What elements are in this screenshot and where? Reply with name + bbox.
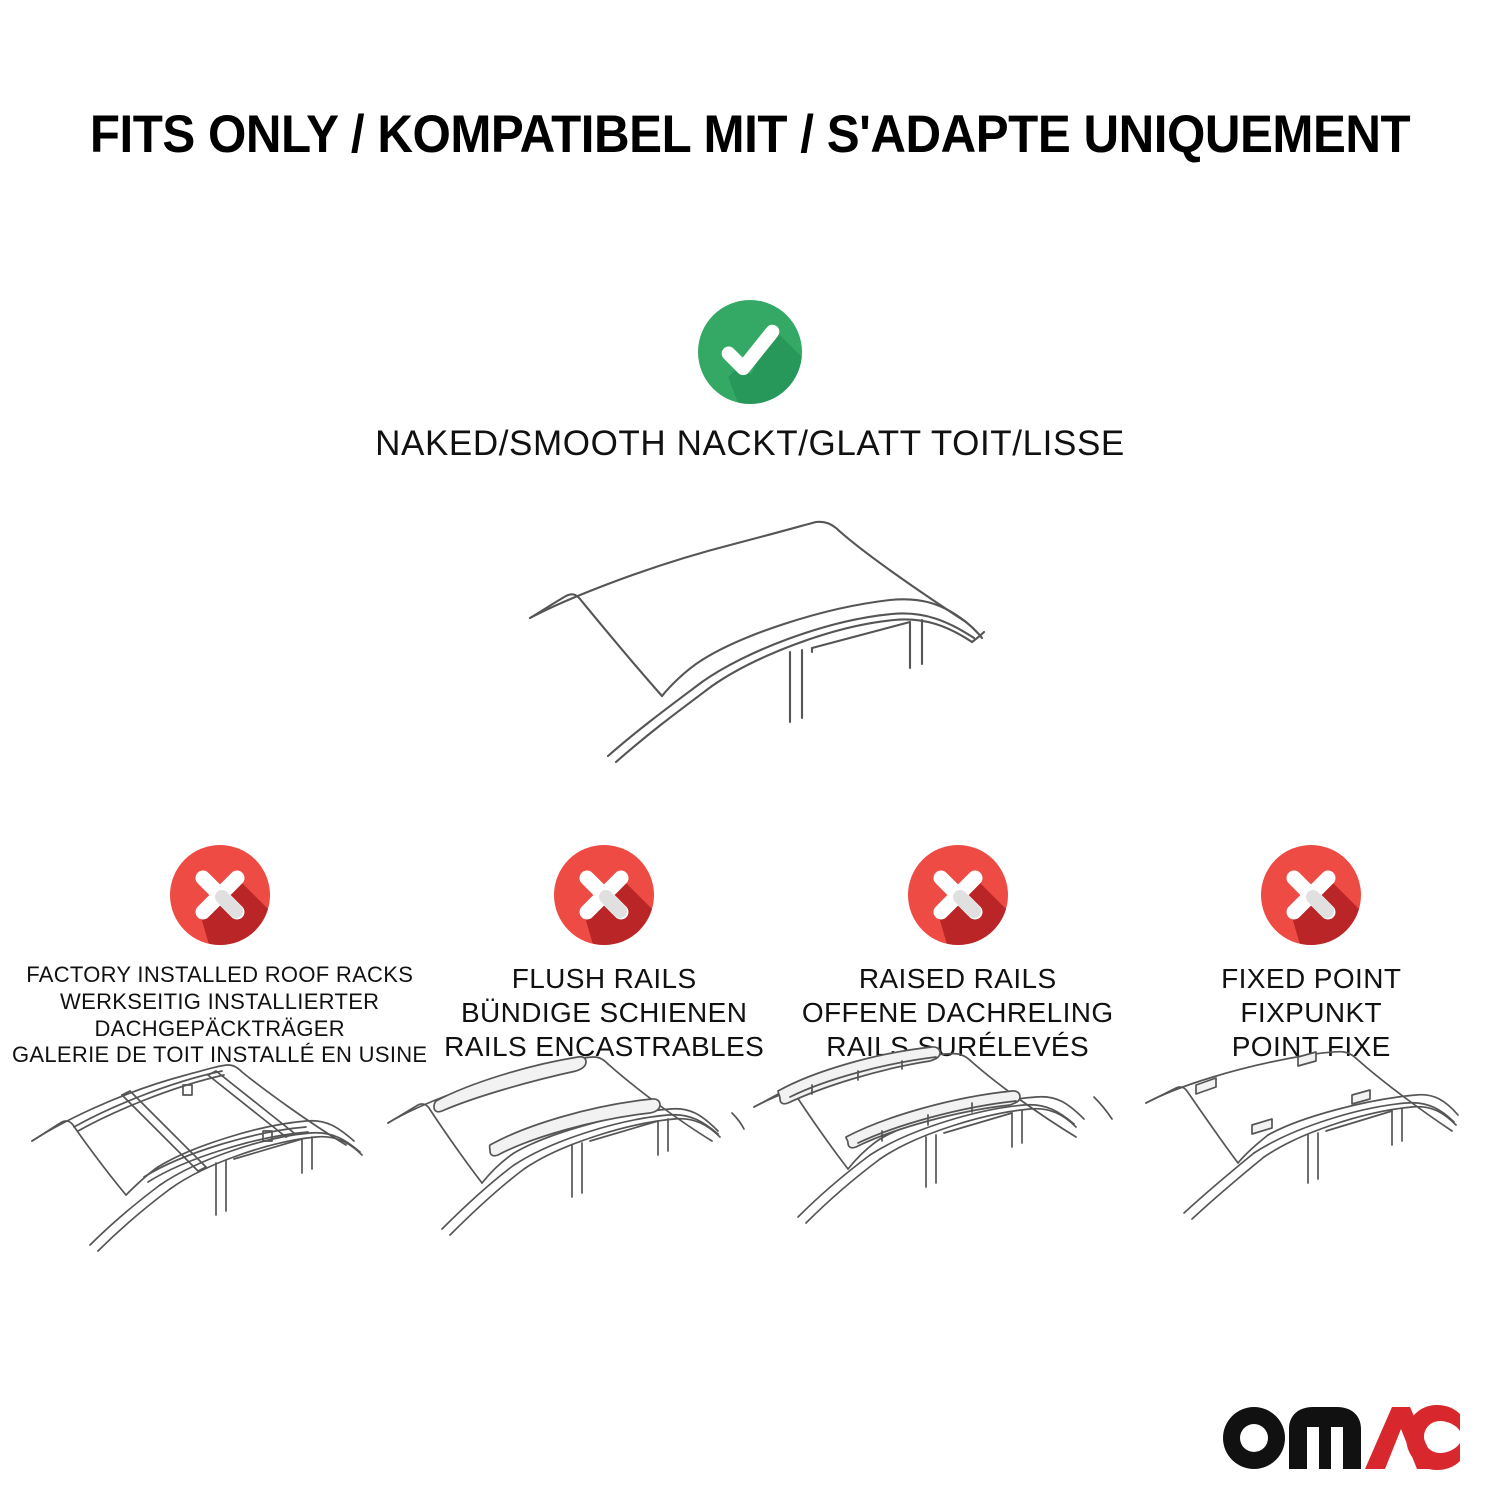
compatible-label-line-en: NAKED/SMOOTH (375, 424, 666, 463)
car-roof-with-factory-crossbars-illustration (10, 1045, 380, 1270)
x-circle-icon (170, 845, 270, 950)
label-line-de: OFFENE DACHRELING (802, 996, 1114, 1030)
label-line-en: FACTORY INSTALLED ROOF RACKS (12, 962, 427, 989)
art-cell-flush-rails (380, 1045, 750, 1270)
label-line-de: FIXPUNKT (1221, 996, 1401, 1030)
label-line-de1: WERKSEITIG INSTALLIERTER (12, 989, 427, 1016)
omac-logo-letter-m (1289, 1407, 1361, 1469)
incompatible-column-raised-rails: RAISED RAILS OFFENE DACHRELING RAILS SUR… (781, 845, 1135, 1064)
x-circle-icon (554, 845, 654, 950)
infographic-page: FITS ONLY / KOMPATIBEL MIT / S'ADAPTE UN… (0, 0, 1500, 1500)
label-line-en: FLUSH RAILS (444, 962, 764, 996)
compatible-label-line-fr: TOIT/LISSE (931, 424, 1125, 463)
omac-logo-letter-o (1223, 1407, 1285, 1469)
bare-smooth-car-roof-illustration (490, 510, 1010, 795)
x-circle-icon (1261, 845, 1361, 950)
incompatible-column-factory-racks: FACTORY INSTALLED ROOF RACKS WERKSEITIG … (12, 845, 427, 1069)
label-line-de: BÜNDIGE SCHIENEN (444, 996, 764, 1030)
label-line-en: FIXED POINT (1221, 962, 1401, 996)
x-circle-icon (908, 845, 1008, 950)
omac-logo (1220, 1396, 1460, 1474)
car-roof-with-fixed-points-illustration (1140, 1045, 1470, 1270)
incompatible-column-flush-rails: FLUSH RAILS BÜNDIGE SCHIENEN RAILS ENCAS… (427, 845, 781, 1064)
incompatible-section: FACTORY INSTALLED ROOF RACKS WERKSEITIG … (0, 845, 1500, 1069)
incompatible-illustrations-row (0, 1045, 1500, 1270)
art-cell-raised-rails (750, 1045, 1120, 1270)
label-line-de2: DACHGEPÄCKTRÄGER (12, 1016, 427, 1043)
compatible-illustration-wrap (0, 510, 1500, 795)
incompatible-column-fixed-point: FIXED POINT FIXPUNKT POINT FIXE (1134, 845, 1488, 1064)
label-line-en: RAISED RAILS (802, 962, 1114, 996)
compatible-label: NAKED/SMOOTH NACKT/GLATT TOIT/LISSE (375, 423, 1125, 465)
car-roof-with-raised-rails-illustration (750, 1045, 1120, 1270)
compatible-label-line-de: NACKT/GLATT (677, 424, 922, 463)
art-cell-fixed-point (1120, 1045, 1490, 1270)
check-circle-icon (698, 300, 802, 409)
compatible-section: NAKED/SMOOTH NACKT/GLATT TOIT/LISSE (0, 300, 1500, 465)
art-cell-factory-racks (10, 1045, 380, 1270)
page-title: FITS ONLY / KOMPATIBEL MIT / S'ADAPTE UN… (53, 104, 1448, 165)
car-roof-with-flush-rails-illustration (380, 1045, 750, 1270)
